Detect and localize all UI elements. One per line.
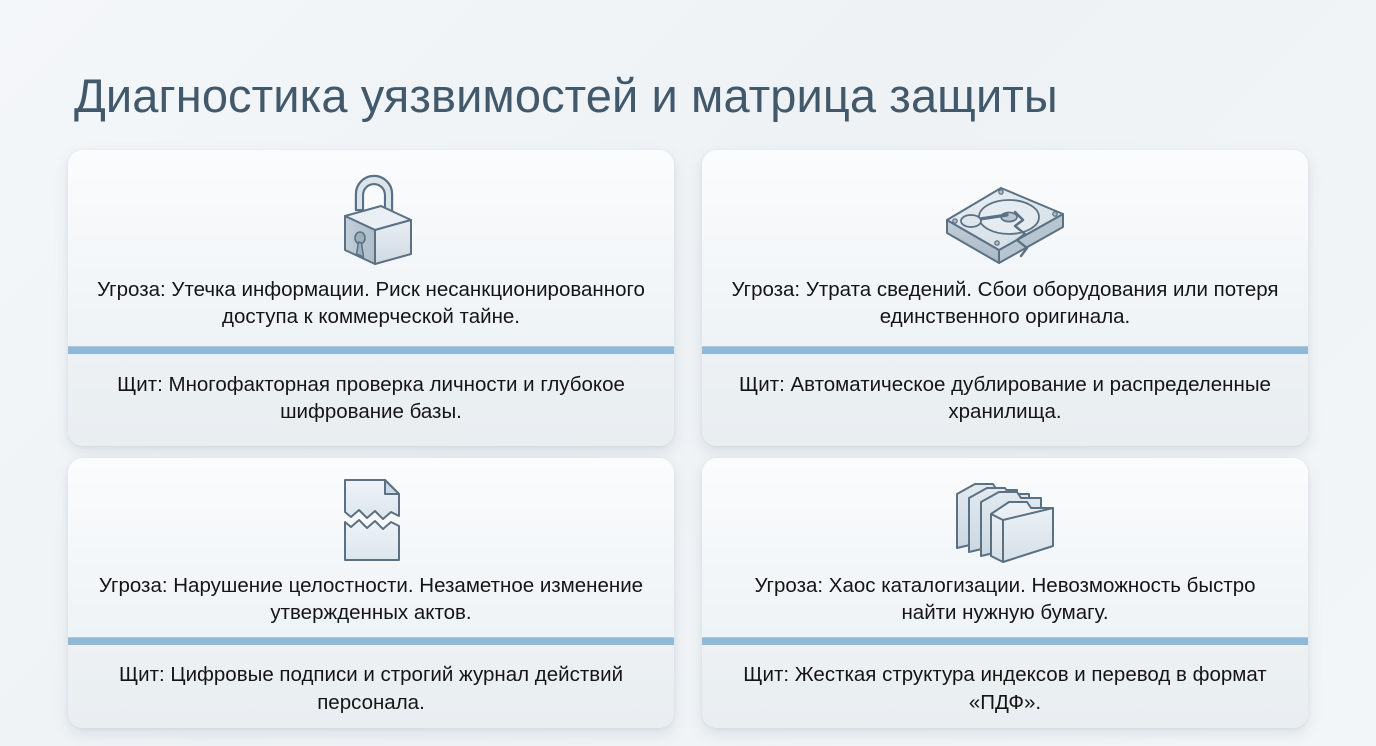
- threat-card-integrity[interactable]: Угроза: Нарушение целостности. Незаметно…: [68, 458, 674, 728]
- threat-card-cataloging-chaos[interactable]: Угроза: Хаос каталогизации. Невозможност…: [702, 458, 1308, 728]
- threat-description: Угроза: Нарушение целостности. Незаметно…: [92, 572, 650, 627]
- card-threat-section: Угроза: Утечка информации. Риск несанкци…: [68, 150, 674, 346]
- threat-card-data-loss[interactable]: Угроза: Утрата сведений. Сбои оборудован…: [702, 150, 1308, 446]
- card-divider: [702, 346, 1308, 354]
- shield-description: Щит: Автоматическое дублирование и распр…: [726, 371, 1284, 426]
- card-threat-section: Угроза: Утрата сведений. Сбои оборудован…: [702, 150, 1308, 346]
- slide-root: Диагностика уязвимостей и матрица защиты: [0, 0, 1376, 746]
- threat-description: Угроза: Утечка информации. Риск несанкци…: [92, 276, 650, 331]
- stacked-folders-icon: [947, 472, 1063, 568]
- threat-shield-grid: Угроза: Утечка информации. Риск несанкци…: [68, 150, 1308, 728]
- card-shield-section: Щит: Цифровые подписи и строгий журнал д…: [68, 645, 674, 729]
- cracked-hard-drive-icon: [937, 168, 1073, 272]
- shield-description: Щит: Многофакторная проверка личности и …: [92, 371, 650, 426]
- card-shield-section: Щит: Многофакторная проверка личности и …: [68, 354, 674, 446]
- shield-description: Щит: Жесткая структура индексов и перево…: [726, 661, 1284, 716]
- card-threat-section: Угроза: Хаос каталогизации. Невозможност…: [702, 458, 1308, 637]
- card-divider: [68, 346, 674, 354]
- threat-card-data-leak[interactable]: Угроза: Утечка информации. Риск несанкци…: [68, 150, 674, 446]
- card-divider: [68, 637, 674, 645]
- padlock-icon: [323, 168, 419, 272]
- shield-description: Щит: Цифровые подписи и строгий журнал д…: [92, 661, 650, 716]
- threat-description: Угроза: Утрата сведений. Сбои оборудован…: [726, 276, 1284, 331]
- card-divider: [702, 637, 1308, 645]
- card-threat-section: Угроза: Нарушение целостности. Незаметно…: [68, 458, 674, 637]
- torn-document-icon: [331, 472, 411, 568]
- threat-description: Угроза: Хаос каталогизации. Невозможност…: [726, 572, 1284, 627]
- card-shield-section: Щит: Жесткая структура индексов и перево…: [702, 645, 1308, 729]
- card-shield-section: Щит: Автоматическое дублирование и распр…: [702, 354, 1308, 446]
- page-title: Диагностика уязвимостей и матрица защиты: [74, 69, 1058, 123]
